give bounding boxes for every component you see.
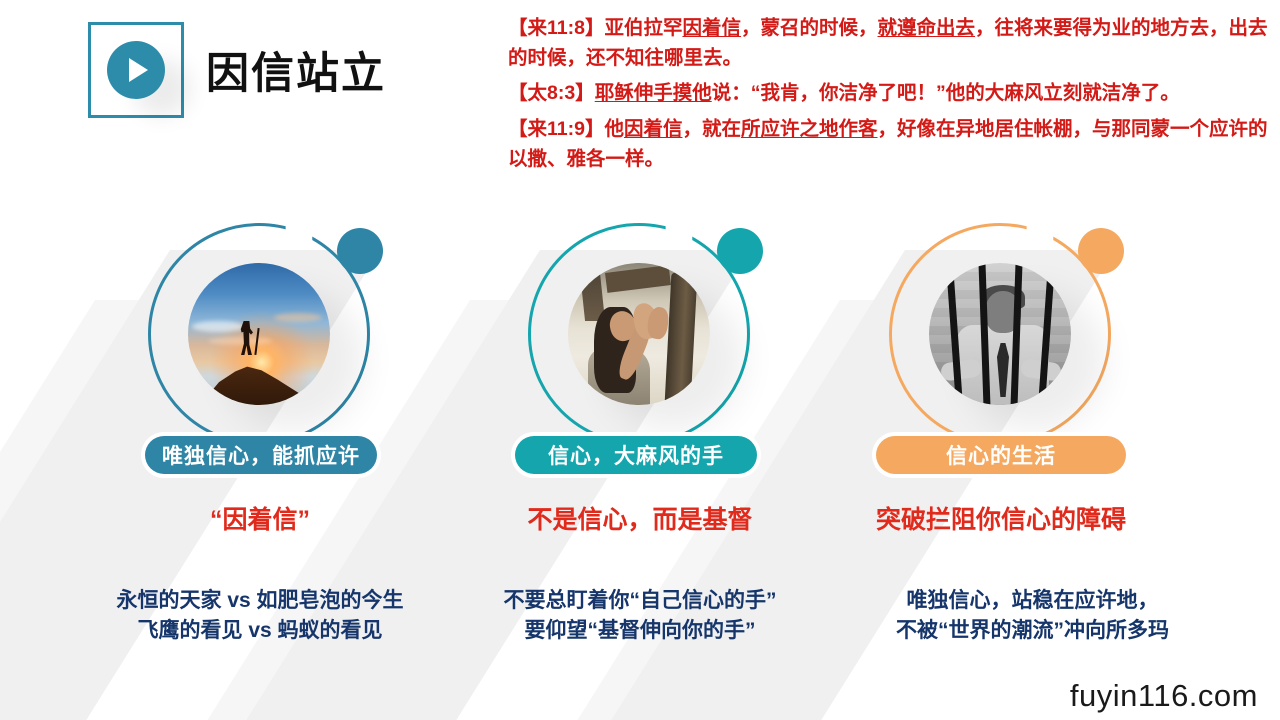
scene-hiker-sunset (188, 263, 330, 405)
scene-prison-bars (929, 263, 1071, 405)
verse-reference-3: 【来11:9】 (508, 118, 604, 140)
verse-text-2: 耶稣伸手摸他说：“我肯，你洁净了吧！”他的大麻风立刻就洁净了。 (595, 82, 1180, 104)
cloud (274, 313, 322, 322)
frame-corner-top-left (88, 22, 117, 51)
verse-reference-2: 【太8:3】 (508, 82, 595, 104)
scripture-verse-3: 【来11:9】他因着信，就在所应许之地作客，好像在异地居住帐棚，与那同蒙一个应许… (508, 115, 1270, 174)
cloud (208, 337, 272, 345)
ring-accent-dot (337, 228, 383, 274)
verse-text-1: 亚伯拉罕因着信，蒙召的时候，就遵命出去，往将来要得为业的地方去，出去的时候，还不… (508, 17, 1268, 69)
frame-corner-bottom-left (88, 89, 117, 118)
panel-label-pill: 信心的生活 (876, 436, 1126, 474)
mountain-peak (200, 345, 318, 405)
page-title: 因信站立 (206, 39, 386, 101)
panel-row: 唯独信心，能抓应许 信心，大麻风的手 (0, 218, 1280, 488)
caption-red-1: “因着信” (125, 500, 395, 536)
slide-header: 因信站立 (88, 22, 386, 118)
panel-life-of-faith: 信心的生活 (866, 218, 1136, 488)
body-line: 不被“世界的潮流”冲向所多玛 (845, 616, 1220, 646)
panel-photo-hiker (188, 263, 330, 405)
body-text-1: 永恒的天家 vs 如肥皂泡的今生 飞鹰的看见 vs 蚂蚁的看见 (85, 586, 435, 647)
site-watermark: fuyin116.com (1070, 678, 1258, 714)
panel-faith-grasps-promise: 唯独信心，能抓应许 (125, 218, 395, 488)
cloud (192, 321, 244, 332)
body-text-2: 不要总盯着你“自己信心的手” 要仰望“基督伸向你的手” (470, 586, 810, 647)
scripture-verse-2: 【太8:3】耶稣伸手摸他说：“我肯，你洁净了吧！”他的大麻风立刻就洁净了。 (508, 79, 1270, 109)
logo-frame (88, 22, 184, 118)
panel-photo-reaching-woman (568, 263, 710, 405)
scripture-verse-1: 【来11:8】亚伯拉罕因着信，蒙召的时候，就遵命出去，往将来要得为业的地方去，出… (508, 14, 1270, 73)
frame-corner-bottom-right (155, 89, 184, 118)
verse-text-3: 他因着信，就在所应许之地作客，好像在异地居住帐棚，与那同蒙一个应许的以撒、雅各一… (508, 118, 1268, 170)
play-button-icon (107, 41, 165, 99)
panel-faith-leper-hand: 信心，大麻风的手 (505, 218, 775, 488)
frame-corner-top-right (155, 22, 184, 51)
body-line: 不要总盯着你“自己信心的手” (470, 586, 810, 616)
body-line: 要仰望“基督伸向你的手” (470, 616, 810, 646)
panel-label-pill: 唯独信心，能抓应许 (145, 436, 377, 474)
ring-accent-dot (717, 228, 763, 274)
body-text-3: 唯独信心，站稳在应许地， 不被“世界的潮流”冲向所多玛 (845, 586, 1220, 647)
scene-woman-reaching (568, 263, 710, 405)
panel-photo-man-behind-bars (929, 263, 1071, 405)
slide-canvas: 因信站立 【来11:8】亚伯拉罕因着信，蒙召的时候，就遵命出去，往将来要得为业的… (0, 0, 1280, 720)
body-line: 永恒的天家 vs 如肥皂泡的今生 (85, 586, 435, 616)
caption-red-3: 突破拦阻你信心的障碍 (866, 500, 1136, 536)
frame-edge-bottom (114, 115, 158, 118)
panel-label-pill: 信心，大麻风的手 (515, 436, 757, 474)
play-triangle-icon (129, 58, 148, 82)
body-line: 唯独信心，站稳在应许地， (845, 586, 1220, 616)
scripture-block: 【来11:8】亚伯拉罕因着信，蒙召的时候，就遵命出去，往将来要得为业的地方去，出… (508, 14, 1270, 180)
ring-accent-dot (1078, 228, 1124, 274)
wooden-post-right (665, 272, 698, 405)
frame-edge-right (181, 48, 184, 92)
frame-edge-left (88, 48, 91, 92)
frame-edge-top (114, 22, 158, 25)
verse-reference-1: 【来11:8】 (508, 17, 604, 39)
caption-red-2: 不是信心，而是基督 (505, 500, 775, 536)
wooden-beam (605, 265, 671, 293)
body-line: 飞鹰的看见 vs 蚂蚁的看见 (85, 616, 435, 646)
